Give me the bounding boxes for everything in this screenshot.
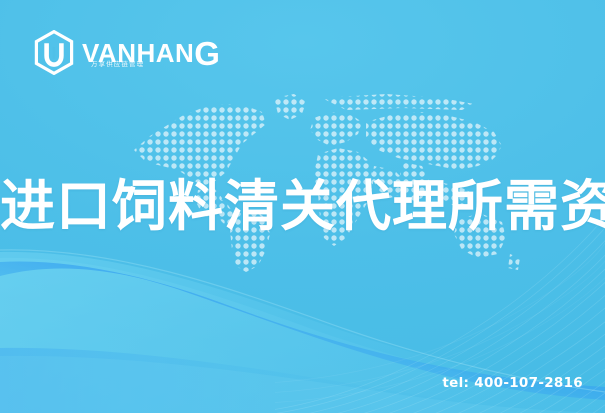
page-title: 进口饲料清关代理所需资料 xyxy=(0,178,605,236)
logo-wordmark-group: VANHANG 万享供应链管理 xyxy=(82,38,220,67)
logo-subtitle: 万享供应链管理 xyxy=(91,58,144,68)
contact-phone[interactable]: tel: 400-107-2816 xyxy=(442,375,583,391)
promo-banner: VANHANG 万享供应链管理 进口饲料清关代理所需资料 tel: 400-10… xyxy=(0,0,605,413)
hexagon-u-logo-icon xyxy=(33,30,75,75)
logo-wordmark-tail: G xyxy=(194,35,220,72)
brand-logo[interactable]: VANHANG 万享供应链管理 xyxy=(33,30,220,75)
